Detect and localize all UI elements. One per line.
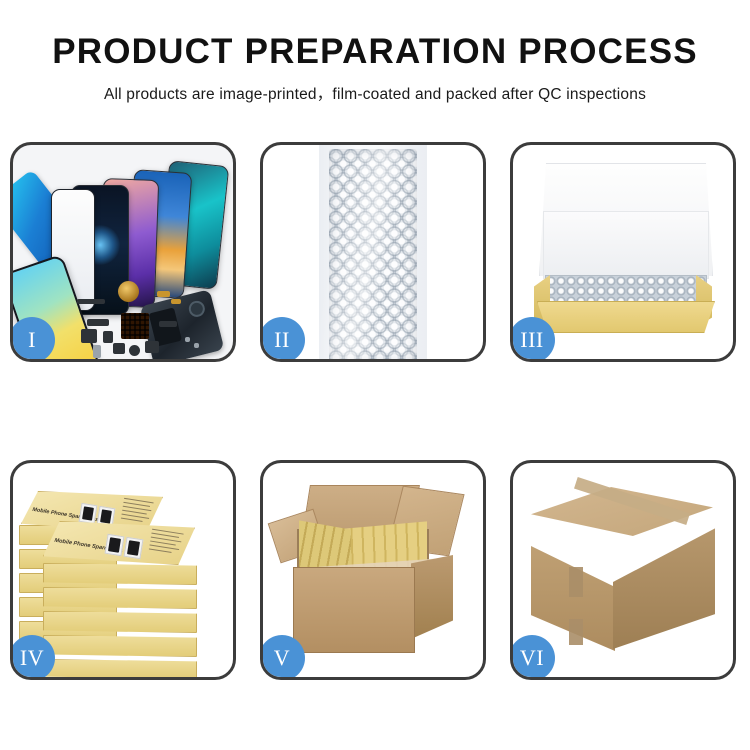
- carton-front-panel: [293, 567, 415, 653]
- header: PRODUCT PREPARATION PROCESS All products…: [0, 0, 750, 104]
- part-block-2: [103, 331, 113, 343]
- step-badge-3: III: [510, 317, 555, 362]
- part-screw-2: [194, 343, 199, 348]
- plastic-sheen: [319, 145, 427, 359]
- bubble-wrapped-contents: [545, 275, 707, 305]
- step-panel-6: VI: [510, 460, 736, 680]
- stacked-box-r-4: [43, 635, 197, 657]
- box-screen-thumb-4: [124, 537, 144, 559]
- spare-parts-cluster: [73, 285, 213, 359]
- box-screen-thumb-1: [79, 503, 98, 524]
- part-flex-cable: [159, 321, 177, 327]
- part-strip-2: [87, 319, 109, 326]
- part-screw-1: [185, 337, 190, 342]
- infographic-page: PRODUCT PREPARATION PROCESS All products…: [0, 0, 750, 750]
- step-panel-2: II: [260, 142, 486, 362]
- step-badge-1: I: [10, 317, 55, 362]
- step-badge-5: V: [260, 635, 305, 680]
- step-badge-4: IV: [10, 635, 55, 680]
- stacked-box-r-1: [43, 563, 197, 585]
- stacked-box-r-3: [43, 611, 197, 633]
- packing-tape-side-2: [569, 619, 583, 645]
- part-block-1: [81, 329, 97, 343]
- box-spec-list-2: [148, 529, 183, 558]
- part-gold-1: [157, 291, 170, 297]
- packing-tape-side-1: [569, 567, 583, 597]
- carton-side-panel: [411, 555, 453, 639]
- stacked-box-r-5: [43, 659, 197, 677]
- part-sim-tray: [93, 345, 101, 358]
- sealed-carton-right: [613, 515, 715, 649]
- page-subtitle: All products are image-printed，film-coat…: [0, 82, 750, 104]
- foam-sheet: [543, 211, 709, 279]
- step-panel-5: V: [260, 460, 486, 680]
- stacked-box-r-2: [43, 587, 197, 609]
- process-steps-grid: I II III: [10, 142, 740, 680]
- box-spec-list-1: [120, 498, 153, 526]
- step-panel-4: Mobile Phone Spare Parts: [10, 460, 236, 680]
- box-screen-thumb-3: [105, 534, 125, 556]
- part-gold-2: [171, 299, 181, 304]
- speaker-coil-part: [118, 281, 139, 302]
- step-badge-2: II: [260, 317, 305, 362]
- part-block-3: [113, 343, 125, 354]
- part-strip-1: [77, 299, 105, 304]
- step-panel-1: I: [10, 142, 236, 362]
- part-button-round: [129, 345, 140, 356]
- step-panel-3: III: [510, 142, 736, 362]
- box-front-panel: [537, 301, 715, 333]
- connector-grid-part: [121, 313, 149, 339]
- step-badge-6: VI: [510, 635, 555, 680]
- part-block-4: [145, 341, 159, 353]
- page-title: PRODUCT PREPARATION PROCESS: [0, 34, 750, 69]
